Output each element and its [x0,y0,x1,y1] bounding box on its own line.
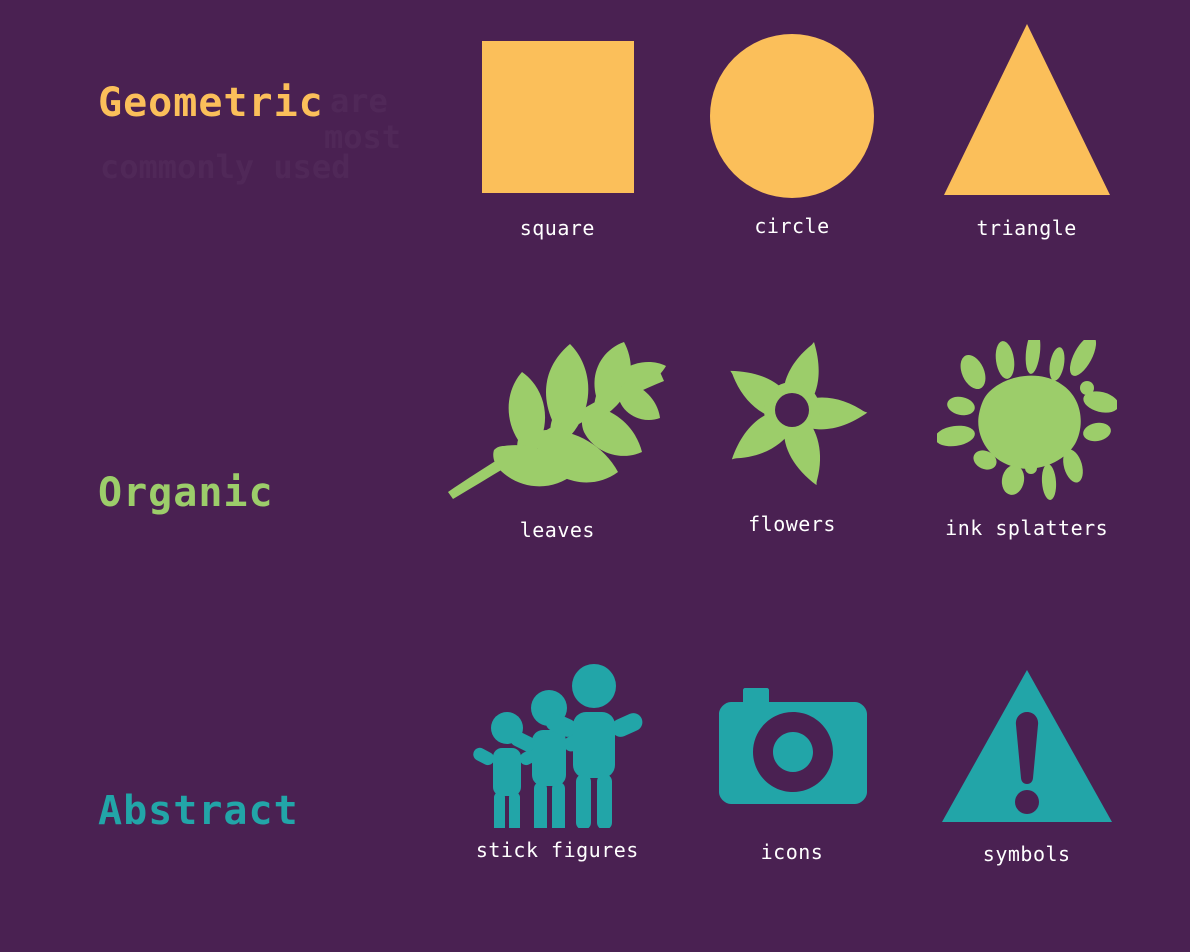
item-leaves[interactable]: leaves [440,330,675,542]
item-stick-figures[interactable]: stick figures [440,660,675,862]
flower-icon [706,340,878,500]
triangle-shape-icon [942,10,1112,200]
ink-splatter-icon [937,340,1117,500]
category-title-geometric: Geometric [98,80,324,126]
item-icons[interactable]: icons [675,660,910,864]
item-symbols[interactable]: symbols [909,660,1144,866]
section-abstract: Abstract [0,660,1190,952]
ink-splatters-art [937,330,1117,500]
item-square[interactable]: square [440,0,675,240]
category-title-abstract: Abstract [98,788,299,834]
flowers-art [706,330,878,500]
ghost-text-most: most [324,118,401,156]
camera-icon [709,664,875,828]
item-circle[interactable]: circle [675,0,910,238]
shape-categories-board: Geometric are most commonly used square [0,0,1190,952]
item-label-leaves: leaves [520,518,595,542]
section-organic: Organic [0,330,1190,630]
stick-figures-icon [469,664,645,828]
category-heading-area-geometric: Geometric are most commonly used [0,0,440,300]
symbols-art [938,660,1116,828]
item-label-triangle: triangle [977,216,1077,240]
triangle-art [942,0,1112,200]
item-label-square: square [520,216,595,240]
item-label-ink-splatters: ink splatters [945,516,1108,540]
item-label-flowers: flowers [748,512,836,536]
category-heading-area-abstract: Abstract [0,660,440,952]
items-geometric: square circle [440,0,1190,240]
category-heading-area-organic: Organic [0,330,440,630]
item-label-icons: icons [761,840,824,864]
square-art [478,0,636,200]
item-triangle[interactable]: triangle [909,0,1144,240]
leaves-art [446,330,668,500]
icons-art [709,660,875,828]
category-title-organic: Organic [98,470,274,516]
ghost-text-are: are [330,82,388,120]
circle-shape-icon [708,10,876,200]
items-organic: leaves [440,330,1190,542]
warning-triangle-icon [938,664,1116,828]
section-geometric: Geometric are most commonly used square [0,0,1190,300]
leaf-branch-icon [446,340,668,500]
square-shape-icon [478,10,636,200]
ghost-text-commonly-used: commonly used [100,148,350,186]
item-label-symbols: symbols [983,842,1071,866]
item-flowers[interactable]: flowers [675,330,910,536]
item-ink-splatters[interactable]: ink splatters [909,330,1144,540]
stick-figures-art [469,660,645,828]
item-label-stick-figures: stick figures [476,838,639,862]
circle-art [708,0,876,200]
item-label-circle: circle [754,214,829,238]
items-abstract: stick figures icons [440,660,1190,866]
